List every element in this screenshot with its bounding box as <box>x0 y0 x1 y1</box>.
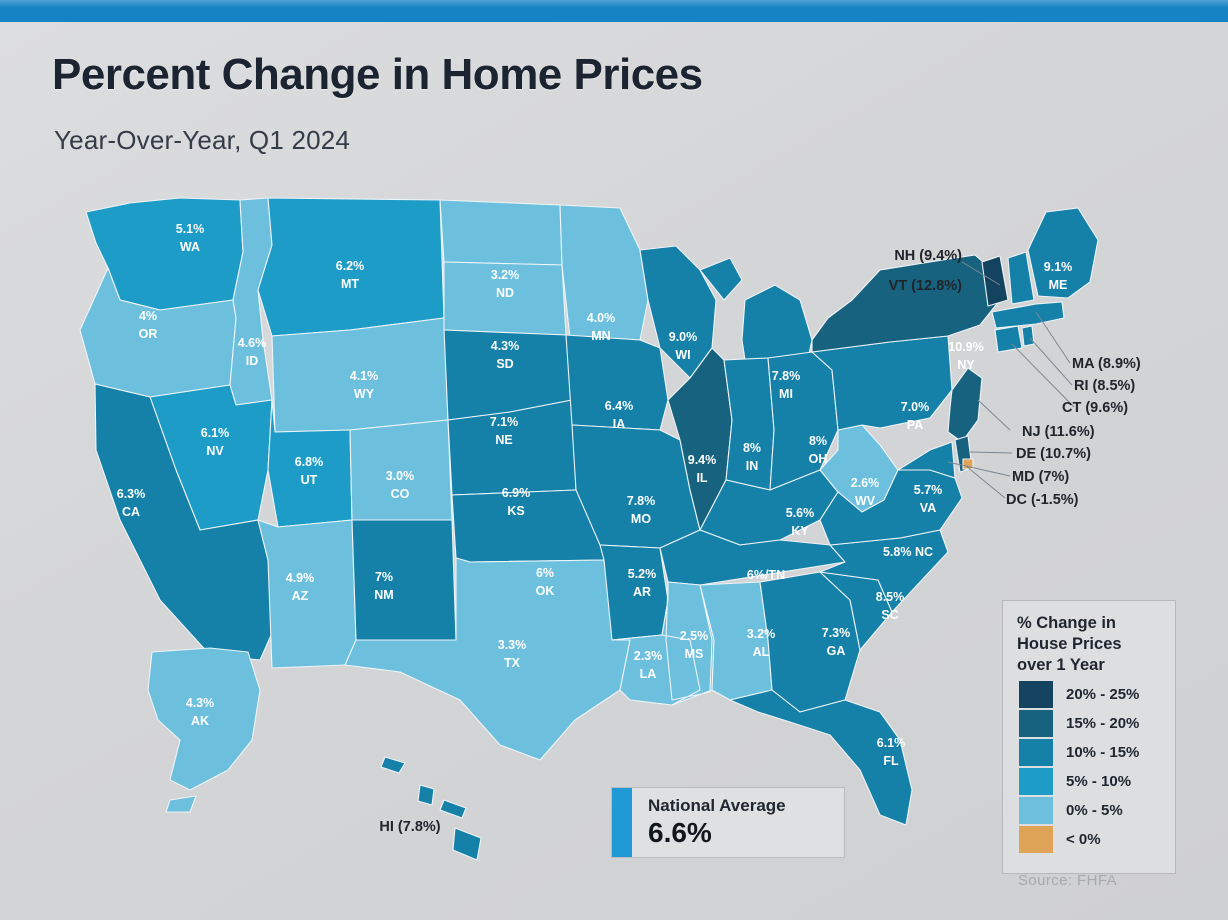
state-AR[interactable] <box>600 545 668 640</box>
state-IN[interactable] <box>724 358 774 490</box>
leader-line-md <box>948 462 1010 476</box>
legend-swatch <box>1019 826 1053 853</box>
legend-swatch <box>1019 710 1053 737</box>
state-CT[interactable] <box>995 326 1022 352</box>
state-AZ[interactable] <box>258 520 356 668</box>
national-average-label: National Average <box>648 796 786 816</box>
state-NJ[interactable] <box>948 368 982 442</box>
legend-item-label: 10% - 15% <box>1066 744 1139 761</box>
legend-item[interactable]: 0% - 5% <box>1003 796 1175 825</box>
legend-title-line-3: over 1 Year <box>1017 655 1161 676</box>
callout-RI: RI (8.5%) <box>1074 378 1135 394</box>
national-average-accent-bar <box>612 788 632 857</box>
leader-line-ri <box>1030 338 1072 385</box>
state-ND[interactable] <box>440 200 562 265</box>
state-WY[interactable] <box>272 318 448 432</box>
leader-line-de <box>970 452 1012 453</box>
legend-title-line-2: House Prices <box>1017 634 1161 655</box>
callout-CT: CT (9.6%) <box>1062 400 1128 416</box>
national-average-value: 6.6% <box>648 817 786 849</box>
legend-item-label: 5% - 10% <box>1066 773 1131 790</box>
state-NM[interactable] <box>352 520 456 640</box>
legend-swatch <box>1019 739 1053 766</box>
legend-item[interactable]: 10% - 15% <box>1003 738 1175 767</box>
state-MA[interactable] <box>992 302 1064 328</box>
state-SD[interactable] <box>444 262 566 335</box>
legend-title: % Change in House Prices over 1 Year <box>1003 601 1175 680</box>
legend-swatch <box>1019 681 1053 708</box>
national-average-card: National Average 6.6% <box>611 787 845 858</box>
callout-NJ: NJ (11.6%) <box>1022 424 1095 440</box>
state-CO[interactable] <box>350 420 452 520</box>
source-note: Source: FHFA <box>1018 872 1117 889</box>
legend-item[interactable]: 15% - 20% <box>1003 709 1175 738</box>
state-ME[interactable] <box>1028 208 1098 298</box>
state-MN[interactable] <box>560 205 648 340</box>
callout-HI: HI (7.8%) <box>379 819 440 835</box>
legend-item-label: 0% - 5% <box>1066 802 1123 819</box>
label-NY: 10.9% <box>948 340 983 354</box>
callout-NH: NH (9.4%) <box>894 248 962 264</box>
legend-item-label: 15% - 20% <box>1066 715 1139 732</box>
legend-item[interactable]: 20% - 25% <box>1003 680 1175 709</box>
callout-MD: MD (7%) <box>1012 469 1069 485</box>
callout-DC: DC (-1.5%) <box>1006 492 1079 508</box>
legend-swatch <box>1019 797 1053 824</box>
leader-line-nj <box>978 400 1010 430</box>
state-AK[interactable] <box>148 648 260 812</box>
legend-item-label: 20% - 25% <box>1066 686 1139 703</box>
callout-VT: VT (12.8%) <box>889 278 962 294</box>
state-HI[interactable] <box>381 757 481 860</box>
national-average-text: National Average 6.6% <box>632 788 786 857</box>
state-RI[interactable] <box>1022 326 1034 346</box>
legend-swatch <box>1019 768 1053 795</box>
state-IA[interactable] <box>566 335 668 430</box>
callout-DE: DE (10.7%) <box>1016 446 1091 462</box>
state-MT[interactable] <box>258 198 444 336</box>
legend: % Change in House Prices over 1 Year 20%… <box>1002 600 1176 874</box>
leader-line-ct <box>1012 344 1074 407</box>
legend-title-line-1: % Change in <box>1017 613 1161 634</box>
legend-item[interactable]: < 0% <box>1003 825 1175 854</box>
callout-MA: MA (8.9%) <box>1072 356 1141 372</box>
legend-item[interactable]: 5% - 10% <box>1003 767 1175 796</box>
legend-item-label: < 0% <box>1066 831 1101 848</box>
state-NY[interactable] <box>812 255 1000 352</box>
